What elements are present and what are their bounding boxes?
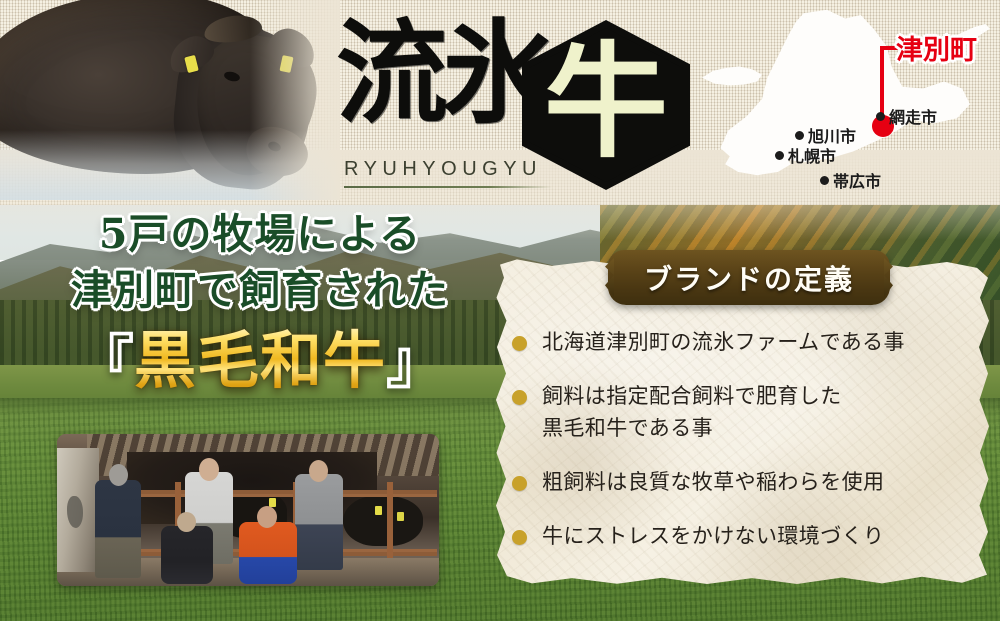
farmer-head bbox=[257, 506, 277, 528]
list-item: 飼料は指定配合飼料で肥育した 黒毛和牛である事 bbox=[512, 380, 982, 444]
city-dot-icon bbox=[775, 151, 784, 160]
headline-brand-line: 『黒毛和牛』 bbox=[30, 324, 490, 399]
list-item-text: 北海道津別町の流氷ファームである事 bbox=[542, 326, 905, 358]
farmer-head bbox=[199, 458, 219, 481]
brand-definition-badge: ブランドの定義 bbox=[608, 250, 890, 305]
cow-photo bbox=[0, 0, 340, 200]
logo-romaji: RYUHYOUGYU bbox=[344, 158, 542, 181]
list-item-text: 牛にストレスをかけない環境づくり bbox=[542, 520, 884, 552]
bullet-dot-icon bbox=[512, 390, 527, 405]
headline-block: 5戸の牧場による 津別町で飼育された 『黒毛和牛』 bbox=[30, 206, 490, 399]
farmer-head bbox=[109, 464, 128, 486]
barn-door bbox=[57, 448, 99, 572]
list-item: 牛にストレスをかけない環境づくり bbox=[512, 520, 982, 552]
promo-banner: 流氷 RYUHYOUGYU 牛 津別町 網走市 旭川市 札幌市 帯広市 5 bbox=[0, 0, 1000, 621]
list-item-line-2: 黒毛和牛である事 bbox=[542, 412, 842, 444]
map-label-tsubetsu: 津別町 bbox=[896, 28, 977, 67]
farmer-standing-left bbox=[95, 480, 141, 578]
farmer-head bbox=[309, 460, 328, 482]
map-city-sapporo: 札幌市 bbox=[775, 143, 836, 167]
list-item-text: 粗飼料は良質な牧草や稲わらを使用 bbox=[542, 466, 884, 498]
cow-photo-right-fade bbox=[250, 0, 340, 200]
brand-definition-list: 北海道津別町の流氷ファームである事 飼料は指定配合飼料で肥育した 黒毛和牛である… bbox=[512, 326, 982, 574]
list-item-line-1: 牛にストレスをかけない環境づくり bbox=[542, 524, 884, 548]
hokkaido-west-peninsula bbox=[702, 58, 762, 96]
barn-fence-post bbox=[387, 482, 393, 560]
headline-line-2: 津別町で飼育された bbox=[30, 262, 490, 318]
list-item-text: 飼料は指定配合飼料で肥育した 黒毛和牛である事 bbox=[542, 380, 842, 444]
city-label: 札幌市 bbox=[788, 143, 836, 167]
city-dot-icon bbox=[795, 131, 804, 140]
bullet-dot-icon bbox=[512, 336, 527, 351]
city-label: 網走市 bbox=[889, 104, 937, 128]
city-label: 帯広市 bbox=[833, 168, 881, 192]
headline-line-1: 5戸の牧場による bbox=[30, 206, 490, 262]
map-city-obihiro: 帯広市 bbox=[820, 168, 881, 192]
logo-kanji: 流氷 bbox=[336, 18, 548, 130]
farmer-head bbox=[177, 512, 196, 532]
farmer-seated-right bbox=[239, 522, 297, 584]
city-dot-icon bbox=[820, 176, 829, 185]
barn-door-patch bbox=[67, 496, 83, 528]
bracket-close: 』 bbox=[386, 328, 444, 396]
logo-underline bbox=[344, 186, 552, 188]
headline-brand-word: 黒毛和牛 bbox=[134, 324, 386, 397]
bullet-dot-icon bbox=[512, 530, 527, 545]
farmer-seated-left bbox=[161, 526, 213, 584]
badge-title: ブランドの定義 bbox=[644, 258, 854, 298]
list-item-line-1: 飼料は指定配合飼料で肥育した bbox=[542, 384, 842, 408]
map-city-abashiri: 網走市 bbox=[876, 104, 937, 128]
farmer-standing-right bbox=[295, 474, 343, 570]
list-item: 粗飼料は良質な牧草や稲わらを使用 bbox=[512, 466, 982, 498]
farmers-photo bbox=[57, 434, 439, 586]
list-item: 北海道津別町の流氷ファームである事 bbox=[512, 326, 982, 358]
list-item-line-1: 粗飼料は良質な牧草や稲わらを使用 bbox=[542, 470, 884, 494]
bullet-dot-icon bbox=[512, 476, 527, 491]
list-item-line-1: 北海道津別町の流氷ファームである事 bbox=[542, 330, 905, 354]
bracket-open: 『 bbox=[76, 328, 134, 396]
city-dot-icon bbox=[876, 112, 885, 121]
